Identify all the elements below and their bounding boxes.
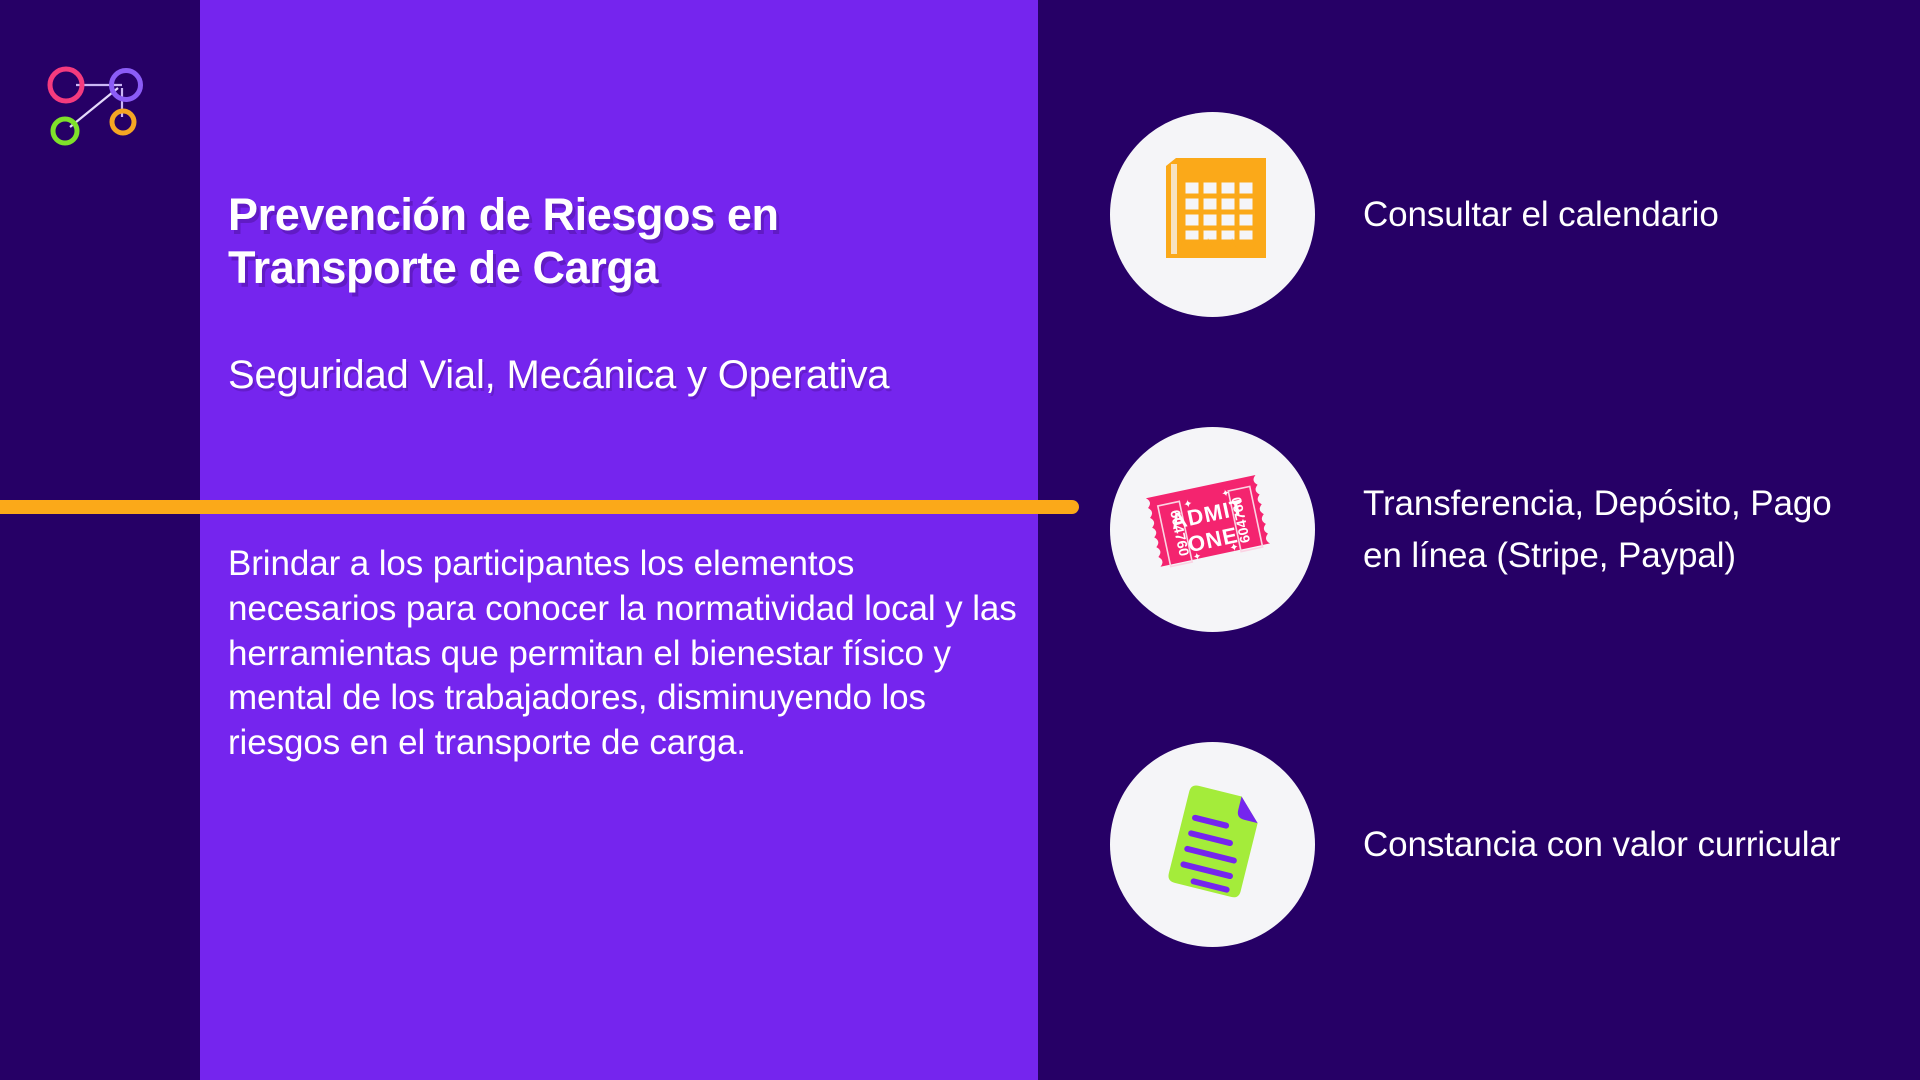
ticket-icon: 604760 604760 ADMIT ONE ✦ ✦ ✦ ✦ [1138,455,1288,605]
page-subtitle: Seguridad Vial, Mecánica y Operativa [228,349,1018,401]
body-paragraph: Brindar a los participantes los elemento… [228,542,1018,766]
feature-row-calendar[interactable]: Consultar el calendario [1110,112,1900,317]
icon-circle-calendar [1110,112,1315,317]
icon-circle-document [1110,742,1315,947]
slide-root: Prevención de Riesgos en Transporte de C… [0,0,1920,1080]
page-title: Prevención de Riesgos en Transporte de C… [228,188,1018,294]
document-icon [1143,775,1283,915]
feature-label-calendar: Consultar el calendario [1363,189,1719,241]
feature-label-payment: Transferencia, Depósito, Pago en línea (… [1363,478,1863,582]
calendar-icon [1148,150,1278,280]
network-nodes-logo [40,55,155,160]
purple-panel [200,0,1038,1080]
feature-row-certificate[interactable]: Constancia con valor curricular [1110,742,1900,947]
feature-row-payment[interactable]: 604760 604760 ADMIT ONE ✦ ✦ ✦ ✦ Transfer… [1110,427,1900,632]
left-content-block: Prevención de Riesgos en Transporte de C… [228,188,1018,401]
orange-divider-rule [0,500,1079,514]
feature-list: Consultar el calendario 604760 604760 [1110,112,1900,947]
icon-circle-ticket: 604760 604760 ADMIT ONE ✦ ✦ ✦ ✦ [1110,427,1315,632]
feature-label-certificate: Constancia con valor curricular [1363,819,1840,871]
